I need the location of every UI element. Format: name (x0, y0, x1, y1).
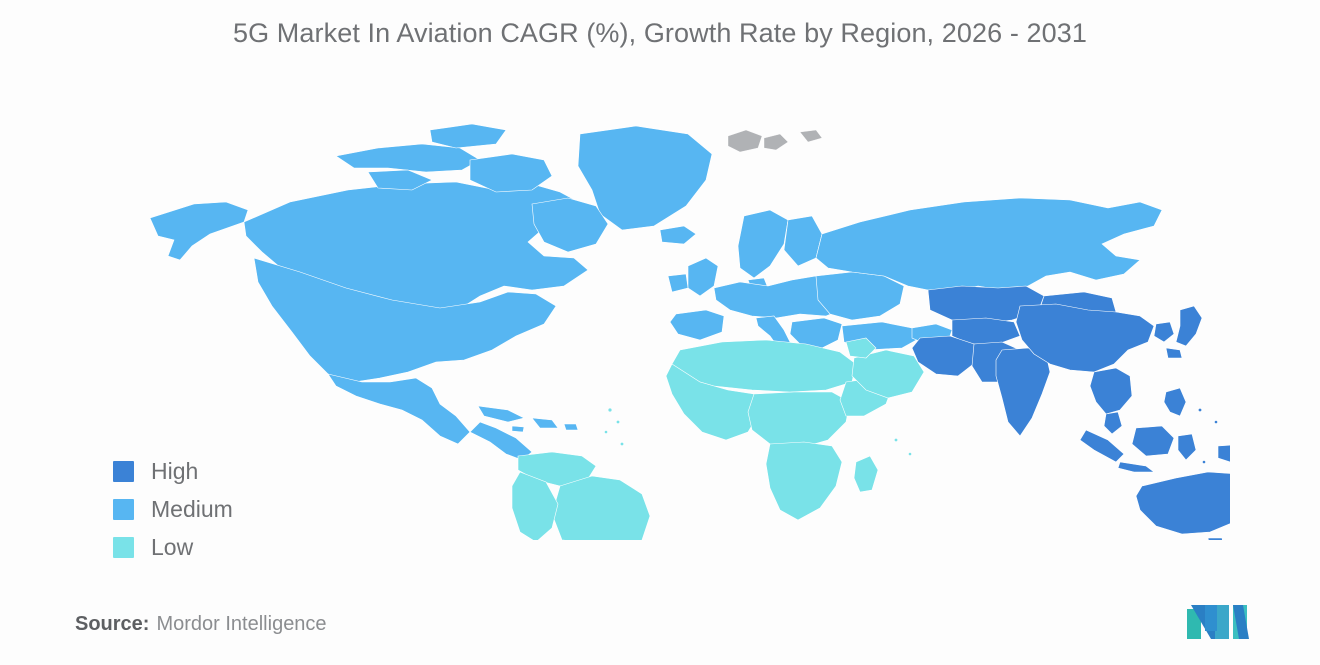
region-madagascar (854, 456, 878, 492)
region-java (1118, 462, 1154, 472)
legend-swatch-medium (113, 499, 134, 520)
legend-label-medium: Medium (151, 498, 233, 521)
region-puerto-rico (564, 424, 578, 430)
region-quebec (532, 198, 608, 252)
region-ellesmere (430, 124, 506, 148)
region-hispaniola (532, 418, 558, 428)
region-borneo (1132, 426, 1174, 456)
region-australia (1136, 472, 1230, 534)
legend-swatch-low (113, 537, 134, 558)
world-map-svg (140, 110, 1230, 540)
region-cuba (478, 406, 524, 422)
region-norway-sweden (738, 210, 788, 278)
region-eastern-europe (816, 272, 904, 320)
island-dot (1221, 475, 1223, 477)
region-sumatra (1080, 430, 1124, 462)
region-iberia (670, 310, 724, 340)
island-dot (617, 421, 620, 424)
island-dot (909, 453, 912, 456)
logo-shape-m-stroke-b (1215, 605, 1229, 639)
map-region-group-high (912, 286, 1230, 540)
region-brazil (552, 476, 650, 540)
legend-swatch-high (113, 461, 134, 482)
source-value: Mordor Intelligence (156, 613, 326, 635)
legend-item-medium[interactable]: Medium (113, 490, 233, 528)
region-tasmania (1208, 538, 1224, 540)
island-dot (1203, 461, 1206, 464)
region-sulawesi (1178, 434, 1196, 460)
island-dot (621, 443, 624, 446)
region-korea (1154, 322, 1174, 342)
map-region-group-low (512, 338, 924, 540)
region-india (996, 348, 1050, 436)
region-jamaica (512, 426, 524, 432)
legend-item-high[interactable]: High (113, 452, 233, 490)
region-philippines (1164, 388, 1186, 416)
region-arctic-islands (336, 144, 480, 172)
logo-shape-m-inner (1205, 605, 1217, 631)
legend-label-high: High (151, 460, 198, 483)
legend-item-low[interactable]: Low (113, 528, 233, 566)
legend: High Medium Low (113, 452, 233, 566)
region-svalbard (728, 130, 762, 152)
region-iceland (660, 226, 696, 244)
map-region-group-no-data (728, 130, 822, 152)
region-japan-south (1166, 348, 1182, 358)
region-papua-new-guinea (1218, 444, 1230, 466)
region-japan (1176, 306, 1202, 346)
source-label: Source: (75, 613, 149, 635)
island-dot (895, 439, 898, 442)
region-mexico (328, 374, 470, 444)
region-alaska (150, 202, 248, 260)
world-choropleth-map (140, 110, 1230, 540)
source-line: Source:Mordor Intelligence (75, 613, 327, 636)
island-dot (1199, 409, 1202, 412)
region-ireland (668, 274, 688, 292)
region-franz-josef (800, 130, 822, 142)
region-united-kingdom (688, 258, 718, 296)
region-indochina (1090, 368, 1132, 414)
region-southern-africa (766, 442, 842, 520)
island-dot (608, 408, 611, 411)
legend-label-low: Low (151, 536, 193, 559)
logo-mark-icon (1185, 601, 1252, 641)
region-malay-peninsula (1104, 412, 1122, 434)
island-dot (1215, 421, 1218, 424)
mordor-intelligence-logo (1185, 601, 1252, 641)
region-central-africa (748, 392, 850, 448)
region-svalbard-east (764, 134, 788, 150)
page-title: 5G Market In Aviation CAGR (%), Growth R… (0, 18, 1320, 49)
island-dot (605, 431, 608, 434)
